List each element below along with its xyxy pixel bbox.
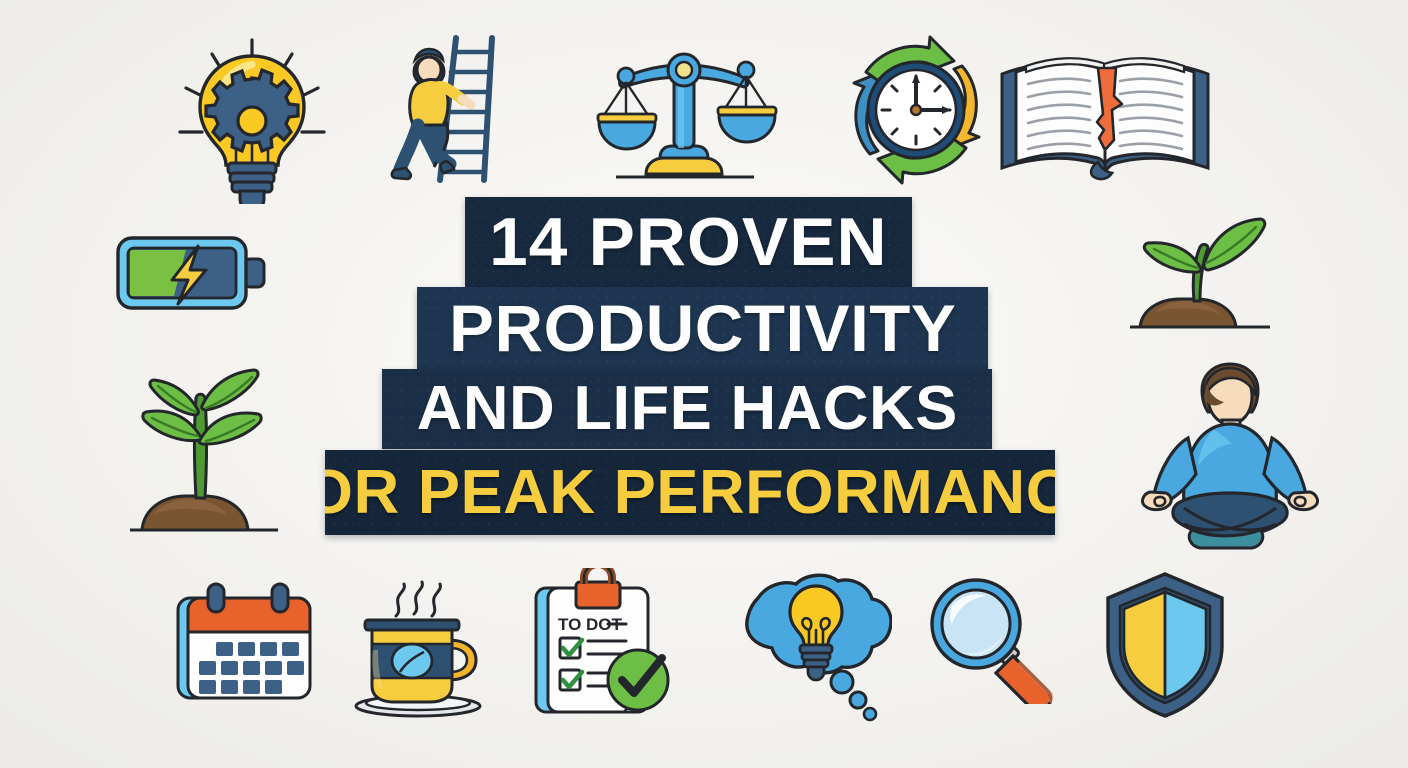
battery-charge-icon	[114, 232, 270, 314]
title-band-1: 14 PROVEN	[465, 197, 912, 287]
title-line-4: FOR PEAK PERFORMANCE	[325, 462, 1055, 524]
open-book-icon	[994, 40, 1216, 184]
title-line-3: AND LIFE HACKS	[416, 378, 957, 440]
idea-thought-bubble-icon	[724, 572, 892, 724]
todo-clipboard-icon: TO DOT	[526, 568, 682, 720]
title-line-2: PRODUCTIVITY	[449, 295, 956, 361]
title-band-3: AND LIFE HACKS	[382, 369, 992, 449]
meditating-person-icon	[1140, 362, 1320, 552]
shield-icon	[1098, 570, 1232, 720]
title-band-2: PRODUCTIVITY	[417, 287, 988, 369]
coffee-cup-icon	[344, 578, 496, 720]
calendar-icon	[172, 580, 316, 704]
title-band-4: FOR PEAK PERFORMANCE	[325, 450, 1055, 535]
title-line-1: 14 PROVEN	[489, 208, 888, 276]
growing-plant-icon	[124, 364, 284, 536]
ladder-climber-icon	[384, 30, 514, 190]
clock-cycle-icon	[834, 28, 998, 192]
poster-canvas: TO DOT	[0, 0, 1408, 768]
seedling-icon	[1124, 215, 1276, 333]
lightbulb-gear-icon	[168, 32, 334, 204]
balance-scale-icon	[586, 34, 782, 186]
magnifying-glass-icon	[924, 576, 1070, 704]
